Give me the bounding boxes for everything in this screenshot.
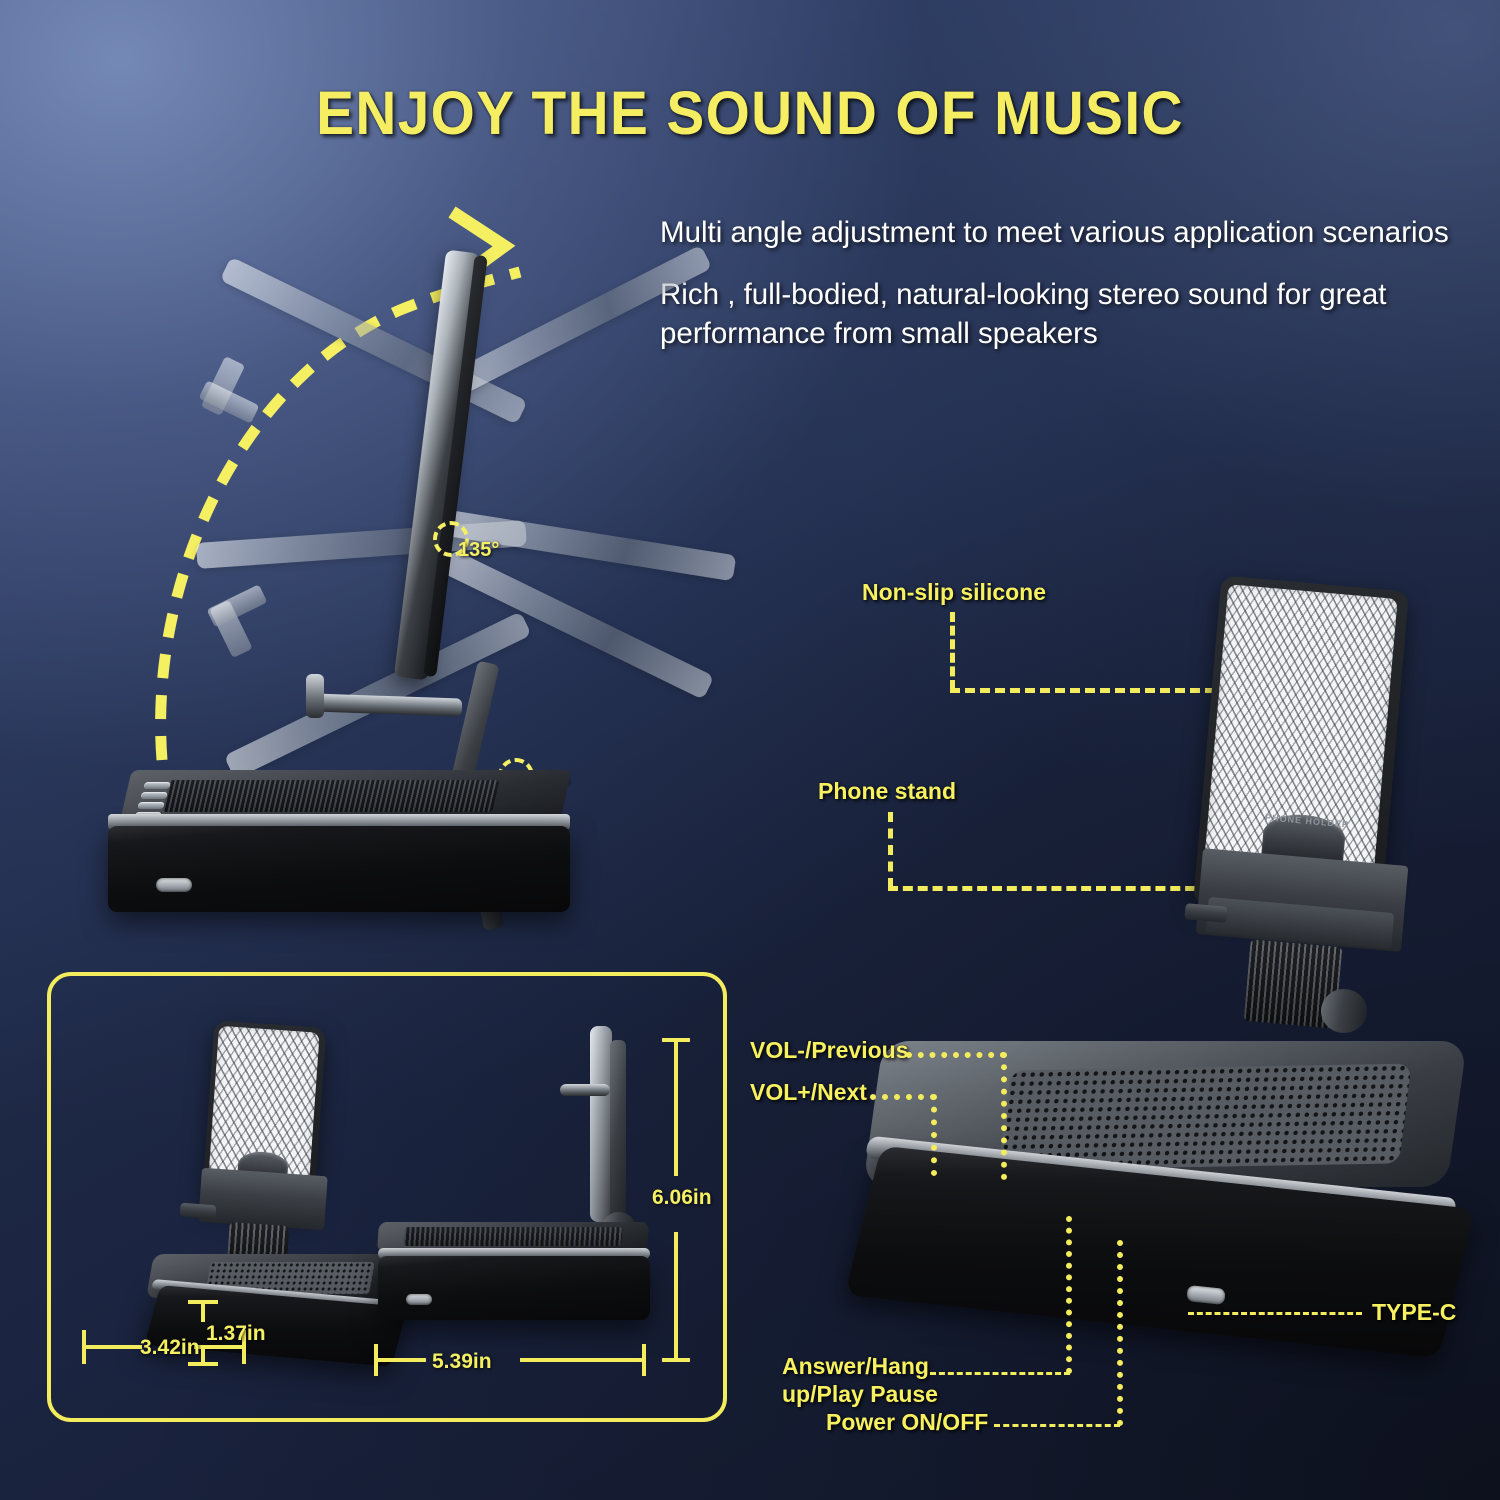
dimension-line-width (82, 1345, 142, 1349)
feature-bullet-2: Rich , full-bodied, natural-looking ster… (660, 276, 1480, 353)
stand-support-arm (610, 1040, 626, 1230)
dimension-tick-open-top (662, 1038, 690, 1042)
dimension-tick-open-bottom (662, 1358, 690, 1362)
dimension-line-depth (520, 1358, 646, 1362)
stand-lower-foot-tip (306, 674, 324, 718)
speaker-base-left (108, 770, 578, 915)
dimension-line-depth (374, 1358, 426, 1362)
dimension-line-height-open (674, 1038, 678, 1176)
phone-support-lip-tab (1184, 903, 1227, 923)
dimension-tick-folded-top (188, 1300, 218, 1304)
feature-bullet-1: Multi angle adjustment to meet various a… (660, 214, 1480, 252)
dimension-tick-depth-right (642, 1344, 646, 1376)
usb-c-port (156, 878, 192, 892)
callout-answer-line-v (1066, 1216, 1072, 1374)
callout-vol-up-line-h (870, 1094, 936, 1100)
control-button[interactable] (140, 792, 168, 799)
dimension-line-height-open (674, 1232, 678, 1362)
phone-support-lip (198, 1168, 327, 1231)
phone-support-lip-tab (180, 1203, 217, 1219)
callout-vol-up-label: VOL+/Next (750, 1078, 867, 1106)
speaker-body (108, 826, 570, 912)
control-button[interactable] (137, 802, 165, 809)
callout-vol-down-line-v (1001, 1052, 1007, 1180)
page-title: ENJOY THE SOUND OF MUSIC (53, 78, 1448, 148)
callout-power-line-v (1117, 1240, 1123, 1426)
callout-vol-down-line-h (906, 1052, 1006, 1058)
speaker-grille (403, 1227, 622, 1246)
callout-answer-line-h (930, 1372, 1070, 1375)
stand-hinge-knuckle (1321, 989, 1367, 1033)
dimension-unit-side (378, 1026, 678, 1356)
callout-power-line-h (994, 1424, 1120, 1427)
speaker-body (378, 1256, 650, 1320)
callout-vol-down-label: VOL-/Previous (750, 1036, 908, 1064)
speaker-grille-mesh (998, 1064, 1411, 1171)
callout-power-label: Power ON/OFF (826, 1408, 988, 1436)
angle-label-top: 135° (458, 539, 499, 562)
phone-backplate-side (590, 1026, 612, 1222)
dimension-label-width: 3.42in (140, 1336, 200, 1360)
dimension-tick-width-left (82, 1330, 86, 1364)
callout-typec-line-h (1188, 1312, 1362, 1315)
dimension-label-depth: 5.39in (432, 1350, 492, 1374)
callout-vol-up-line-v (931, 1094, 937, 1176)
dimension-tick-depth-left (374, 1344, 378, 1376)
stand-lower-foot (560, 1084, 610, 1096)
rotation-arrow-icon (100, 180, 660, 820)
feature-bullets: Multi angle adjustment to meet various a… (660, 214, 1480, 377)
callout-typec-label: TYPE-C (1372, 1298, 1456, 1326)
dimension-label-height-open: 6.06in (652, 1186, 712, 1210)
hero-product-assembly: PHONE HOLDER (855, 575, 1475, 1345)
dimension-label-height-folded: 1.37in (206, 1322, 266, 1346)
callout-answer-label: Answer/Hang up/Play Pause (782, 1352, 938, 1408)
usb-c-port (406, 1294, 432, 1305)
dimension-tick-folded-bottom (188, 1362, 218, 1366)
speaker-grille (162, 780, 499, 812)
product-infographic: ENJOY THE SOUND OF MUSIC Multi angle adj… (0, 0, 1500, 1500)
control-button[interactable] (143, 782, 171, 789)
